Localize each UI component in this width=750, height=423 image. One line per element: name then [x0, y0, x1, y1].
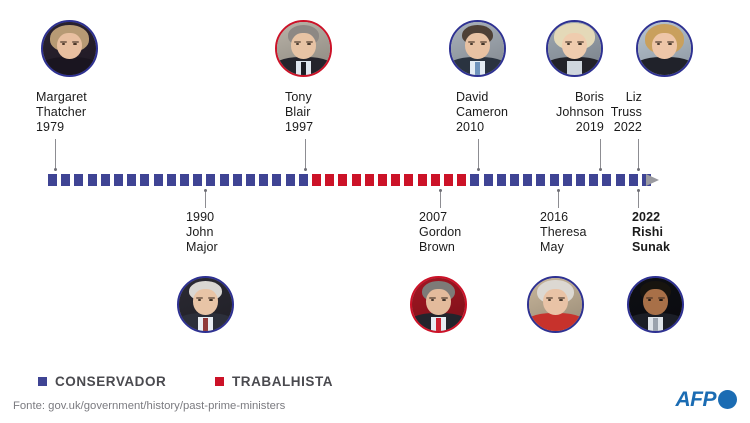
timeline-dash — [246, 174, 255, 186]
year-may: 2016 — [540, 210, 587, 225]
portrait-tie — [436, 318, 441, 333]
timeline-dash — [510, 174, 519, 186]
portrait-face — [193, 289, 217, 316]
portrait-face — [57, 33, 81, 60]
timeline-dash — [550, 174, 559, 186]
year-cameron: 2010 — [456, 120, 508, 135]
timeline-dash — [457, 174, 466, 186]
year-truss: 2022 — [594, 120, 642, 135]
timeline-dash — [74, 174, 83, 186]
portrait-cameron — [449, 20, 506, 77]
portrait-face — [562, 33, 586, 60]
portrait-face — [465, 33, 489, 60]
portrait-tie — [475, 62, 480, 77]
legend-label-trabalhista: TRABALHISTA — [232, 374, 333, 389]
portrait-may — [529, 278, 582, 331]
portrait-truss — [636, 20, 693, 77]
portrait-tie — [301, 62, 306, 77]
portrait-may — [527, 276, 584, 333]
timeline-dash — [272, 174, 281, 186]
timeline-dash — [259, 174, 268, 186]
portrait-face — [652, 33, 676, 60]
portrait-blair — [277, 22, 330, 75]
legend-swatch-trabalhista — [215, 377, 224, 386]
timeline-dash — [299, 174, 308, 186]
portrait-sunak — [629, 278, 682, 331]
legend-swatch-conservador — [38, 377, 47, 386]
legend-label-conservador: CONSERVADOR — [55, 374, 166, 389]
name-line-1-may: Theresa — [540, 225, 587, 240]
connector-dot-truss — [637, 168, 640, 171]
portrait-johnson — [548, 22, 601, 75]
connector-tick-brown — [440, 189, 441, 208]
timeline-bar — [48, 174, 645, 186]
label-brown: 2007GordonBrown — [419, 210, 461, 256]
name-line-2-thatcher: Thatcher — [36, 105, 87, 120]
year-thatcher: 1979 — [36, 120, 87, 135]
timeline-dash — [312, 174, 321, 186]
portrait-shirt — [567, 61, 582, 77]
timeline-dash — [629, 174, 638, 186]
legend-item-trabalhista: TRABALHISTA — [215, 374, 333, 389]
connector-tick-sunak — [638, 189, 639, 208]
portrait-face — [291, 33, 315, 60]
portrait-brown — [410, 276, 467, 333]
year-major: 1990 — [186, 210, 218, 225]
connector-tick-may — [558, 189, 559, 208]
name-line-1-blair: Tony — [285, 90, 313, 105]
timeline-dash — [576, 174, 585, 186]
portrait-sunak — [627, 276, 684, 333]
timeline-dash — [563, 174, 572, 186]
year-blair: 1997 — [285, 120, 313, 135]
timeline-dash — [325, 174, 334, 186]
timeline-dash — [206, 174, 215, 186]
timeline-dash — [140, 174, 149, 186]
connector-tick-major — [205, 189, 206, 208]
connector-dot-johnson — [599, 168, 602, 171]
timeline-dash — [114, 174, 123, 186]
timeline-dash — [404, 174, 413, 186]
afp-logo: AFP — [676, 389, 738, 410]
timeline-dash — [61, 174, 70, 186]
source-note: Fonte: gov.uk/government/history/past-pr… — [13, 400, 285, 412]
portrait-truss — [638, 22, 691, 75]
timeline-dash — [418, 174, 427, 186]
timeline-dash — [365, 174, 374, 186]
name-line-2-brown: Brown — [419, 240, 461, 255]
portrait-thatcher — [41, 20, 98, 77]
portrait-major — [179, 278, 232, 331]
timeline-dash — [523, 174, 532, 186]
timeline-dash — [127, 174, 136, 186]
portrait-johnson — [546, 20, 603, 77]
portrait-brown — [412, 278, 465, 331]
portrait-blair — [275, 20, 332, 77]
portrait-tie — [203, 318, 208, 333]
timeline-dash — [391, 174, 400, 186]
year-sunak: 2022 — [632, 210, 670, 225]
portrait-torso — [636, 57, 693, 77]
year-brown: 2007 — [419, 210, 461, 225]
timeline-dash — [338, 174, 347, 186]
timeline-dash — [101, 174, 110, 186]
timeline-dash — [470, 174, 479, 186]
name-line-2-blair: Blair — [285, 105, 313, 120]
connector-dot-sunak — [637, 189, 640, 192]
portrait-face — [426, 289, 450, 316]
portrait-cameron — [451, 22, 504, 75]
connector-tick-truss — [638, 139, 639, 171]
timeline-arrow-icon — [646, 174, 659, 186]
name-line-2-truss: Truss — [594, 105, 642, 120]
portrait-torso — [527, 313, 584, 333]
afp-dot-icon — [718, 390, 737, 409]
name-line-1-truss: Liz — [594, 90, 642, 105]
legend-item-conservador: CONSERVADOR — [38, 374, 166, 389]
timeline-dash — [616, 174, 625, 186]
name-line-2-major: Major — [186, 240, 218, 255]
connector-tick-johnson — [600, 139, 601, 171]
name-line-1-brown: Gordon — [419, 225, 461, 240]
timeline-dash — [48, 174, 57, 186]
timeline-dash — [286, 174, 295, 186]
timeline-dash — [444, 174, 453, 186]
connector-dot-cameron — [477, 168, 480, 171]
timeline-dash — [233, 174, 242, 186]
name-line-2-may: May — [540, 240, 587, 255]
label-thatcher: MargaretThatcher1979 — [36, 90, 87, 136]
name-line-2-cameron: Cameron — [456, 105, 508, 120]
timeline-dash — [180, 174, 189, 186]
timeline-dash — [602, 174, 611, 186]
name-line-2-sunak: Sunak — [632, 240, 670, 255]
connector-dot-blair — [304, 168, 307, 171]
connector-dot-may — [557, 189, 560, 192]
timeline-dash — [352, 174, 361, 186]
portrait-major — [177, 276, 234, 333]
portrait-torso — [41, 57, 98, 77]
name-line-1-thatcher: Margaret — [36, 90, 87, 105]
connector-tick-blair — [305, 139, 306, 171]
name-line-1-major: John — [186, 225, 218, 240]
timeline-infographic: MargaretThatcher1979TonyBlair1997DavidCa… — [0, 0, 750, 423]
label-cameron: DavidCameron2010 — [456, 90, 508, 136]
timeline-dash — [220, 174, 229, 186]
connector-tick-cameron — [478, 139, 479, 171]
timeline-dash — [484, 174, 493, 186]
name-line-1-cameron: David — [456, 90, 508, 105]
timeline-dash — [378, 174, 387, 186]
connector-dot-thatcher — [54, 168, 57, 171]
label-may: 2016TheresaMay — [540, 210, 587, 256]
afp-wordmark: AFP — [676, 389, 717, 410]
timeline-dash — [88, 174, 97, 186]
connector-dot-major — [204, 189, 207, 192]
label-truss: LizTruss2022 — [594, 90, 642, 136]
label-blair: TonyBlair1997 — [285, 90, 313, 136]
timeline-dash — [589, 174, 598, 186]
timeline-dash — [431, 174, 440, 186]
timeline-dash — [193, 174, 202, 186]
label-major: 1990JohnMajor — [186, 210, 218, 256]
timeline-dash — [167, 174, 176, 186]
label-sunak: 2022RishiSunak — [632, 210, 670, 256]
portrait-thatcher — [43, 22, 96, 75]
connector-dot-brown — [439, 189, 442, 192]
timeline-dash — [497, 174, 506, 186]
timeline-dash — [154, 174, 163, 186]
connector-tick-thatcher — [55, 139, 56, 171]
portrait-face — [643, 289, 667, 316]
name-line-1-sunak: Rishi — [632, 225, 670, 240]
portrait-face — [543, 289, 567, 316]
portrait-tie — [653, 318, 658, 333]
timeline-dash — [536, 174, 545, 186]
